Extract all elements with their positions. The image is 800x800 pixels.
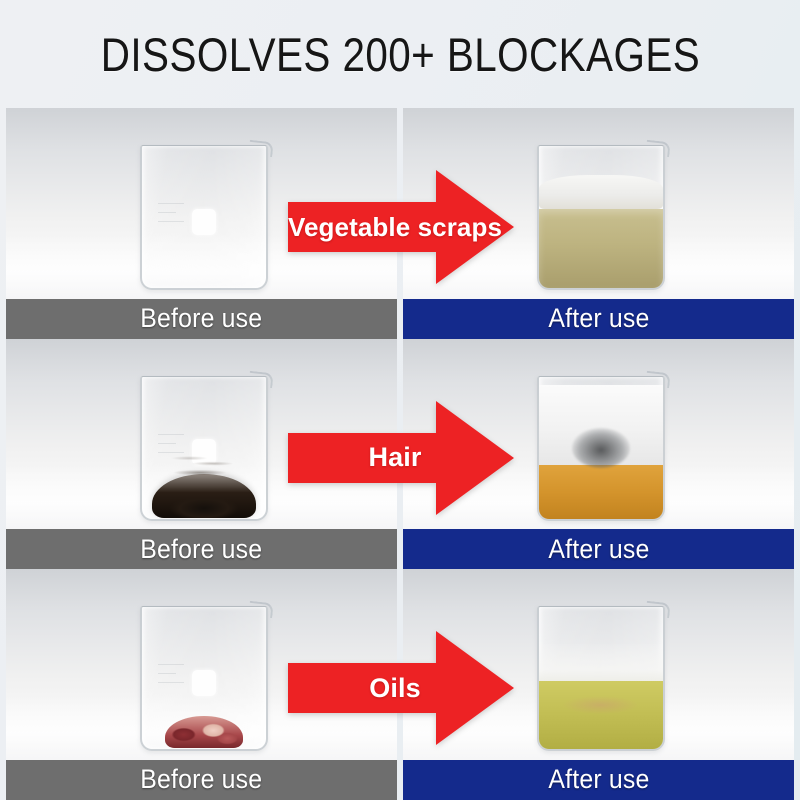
row-panes: Before use After use	[0, 108, 800, 339]
after-pane: After use	[403, 339, 794, 570]
beaker-label-patch	[192, 670, 216, 696]
beaker-icon	[537, 598, 661, 748]
tan-liquid-contents	[539, 209, 663, 289]
beaker-icon	[140, 368, 264, 518]
before-caption-bar: Before use	[6, 299, 397, 339]
beaker-body	[537, 606, 665, 751]
beaker-label-patch	[192, 209, 216, 235]
beaker-body	[140, 145, 268, 290]
beaker-icon	[537, 137, 661, 287]
title-area: DISSOLVES 200+ BLOCKAGES	[0, 0, 800, 108]
after-caption-bar: After use	[403, 299, 794, 339]
beaker-body	[140, 606, 268, 751]
beaker-body	[537, 145, 665, 290]
comparison-row: Before use	[0, 339, 800, 570]
beaker-icon	[140, 137, 264, 287]
olive-liquid-contents	[539, 681, 663, 749]
after-caption-text: After use	[548, 303, 649, 334]
comparison-row: Before use After use	[0, 569, 800, 800]
row-panes: Before use	[0, 339, 800, 570]
comparison-row: Before use After use	[0, 108, 800, 339]
beaker-body	[537, 376, 665, 521]
after-photo	[403, 108, 794, 299]
surface-haze	[539, 644, 663, 681]
before-pane: Before use	[6, 108, 397, 339]
before-caption-text: Before use	[141, 534, 263, 565]
dissolved-residue-cloud	[572, 428, 630, 468]
before-photo	[6, 339, 397, 530]
before-photo	[6, 108, 397, 299]
after-photo	[403, 569, 794, 760]
before-caption-text: Before use	[141, 303, 263, 334]
before-caption-bar: Before use	[6, 760, 397, 800]
after-photo	[403, 339, 794, 530]
before-pane: Before use	[6, 569, 397, 800]
beaker-icon	[140, 598, 264, 748]
after-pane: After use	[403, 108, 794, 339]
before-pane: Before use	[6, 339, 397, 570]
foam-head	[539, 175, 663, 209]
beaker-icon	[537, 368, 661, 518]
after-caption-bar: After use	[403, 760, 794, 800]
amber-liquid-contents	[539, 465, 663, 519]
page-title: DISSOLVES 200+ BLOCKAGES	[100, 27, 699, 82]
comparison-rows: Before use After use	[0, 108, 800, 800]
product-comparison-poster: DISSOLVES 200+ BLOCKAGES	[0, 0, 800, 800]
meat-fat-contents	[165, 716, 243, 748]
vegetable-scraps-contents	[156, 247, 252, 287]
beaker-body	[140, 376, 268, 521]
row-panes: Before use After use	[0, 569, 800, 800]
after-pane: After use	[403, 569, 794, 800]
before-caption-bar: Before use	[6, 529, 397, 569]
after-caption-text: After use	[548, 534, 649, 565]
before-caption-text: Before use	[141, 764, 263, 795]
after-caption-bar: After use	[403, 529, 794, 569]
after-caption-text: After use	[548, 764, 649, 795]
before-photo	[6, 569, 397, 760]
